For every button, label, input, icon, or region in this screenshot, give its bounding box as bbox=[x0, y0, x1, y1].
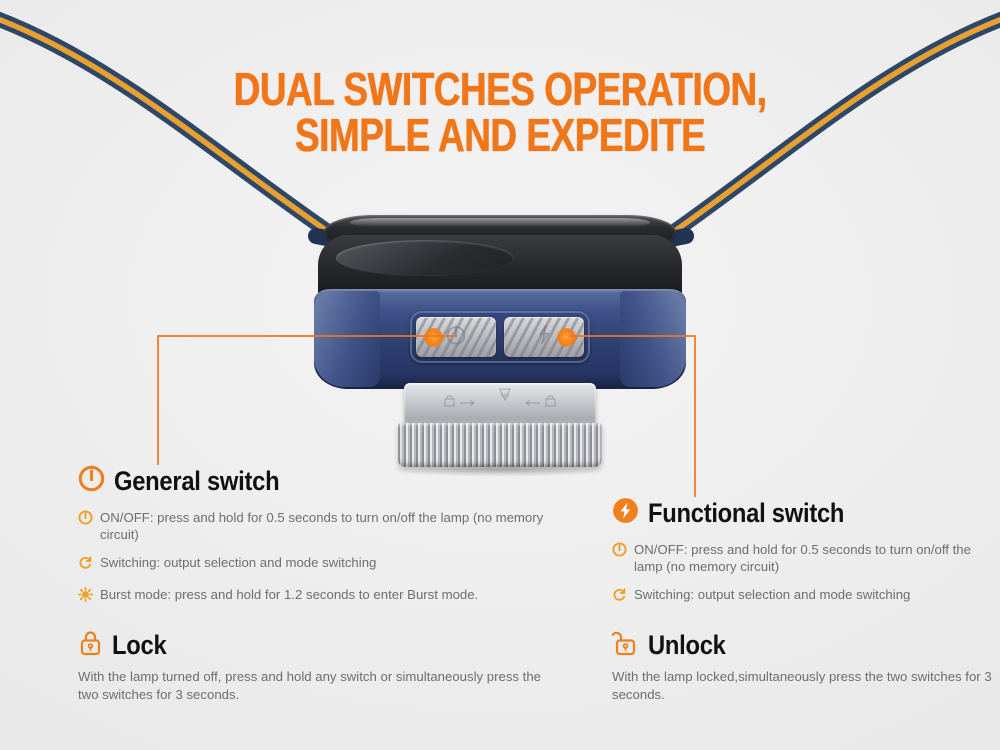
bullet-text: ON/OFF: press and hold for 0.5 seconds t… bbox=[634, 541, 992, 575]
cycle-arrow-icon bbox=[612, 587, 627, 607]
bullet-text: Switching: output selection and mode swi… bbox=[634, 586, 910, 603]
functional-switch-heading: Functional switch bbox=[648, 498, 844, 528]
callout-anchor-left bbox=[424, 328, 443, 347]
power-icon bbox=[78, 510, 93, 530]
bezel-marking-icons bbox=[404, 387, 596, 413]
bullet-text: Switching: output selection and mode swi… bbox=[100, 554, 376, 571]
title-line-2: SIMPLE AND EXPEDITE bbox=[100, 112, 900, 158]
title-line-1: DUAL SWITCHES OPERATION, bbox=[100, 66, 900, 112]
functional-switch-button[interactable] bbox=[504, 317, 584, 357]
general-switch-section: General switch ON/OFF: press and hold fo… bbox=[78, 465, 548, 703]
general-switch-heading-row: General switch bbox=[78, 465, 548, 497]
cycle-arrow-icon bbox=[78, 555, 93, 575]
general-switch-heading: General switch bbox=[114, 466, 279, 496]
unlock-heading-row: Unlock bbox=[612, 629, 992, 661]
lightning-bolt-symbol-icon bbox=[534, 323, 554, 352]
power-circle-icon bbox=[78, 465, 105, 497]
lock-description: With the lamp turned off, press and hold… bbox=[78, 668, 548, 703]
functional-switch-heading-row: Functional switch bbox=[612, 497, 992, 529]
lamp-focus-ring bbox=[398, 423, 602, 467]
headlamp-product-image bbox=[300, 215, 700, 480]
bullet-item: ON/OFF: press and hold for 0.5 seconds t… bbox=[78, 509, 548, 543]
switch-panel bbox=[410, 311, 590, 363]
unlock-heading: Unlock bbox=[648, 630, 726, 660]
page-title: DUAL SWITCHES OPERATION, SIMPLE AND EXPE… bbox=[0, 66, 1000, 158]
unlock-description: With the lamp locked,simultaneously pres… bbox=[612, 668, 992, 703]
infographic-canvas: DUAL SWITCHES OPERATION, SIMPLE AND EXPE… bbox=[0, 0, 1000, 750]
lamp-tilt-hinge bbox=[336, 240, 514, 276]
lamp-right-facet bbox=[620, 291, 686, 387]
bullet-text: Burst mode: press and hold for 1.2 secon… bbox=[100, 586, 478, 603]
bullet-item: Burst mode: press and hold for 1.2 secon… bbox=[78, 586, 548, 607]
padlock-closed-icon bbox=[78, 629, 103, 661]
bullet-item: ON/OFF: press and hold for 0.5 seconds t… bbox=[612, 541, 992, 575]
functional-switch-section: Functional switch ON/OFF: press and hold… bbox=[612, 497, 992, 703]
functional-switch-bullets: ON/OFF: press and hold for 0.5 seconds t… bbox=[612, 541, 992, 607]
callout-anchor-right bbox=[557, 328, 576, 347]
power-symbol-icon bbox=[445, 323, 467, 352]
general-switch-button[interactable] bbox=[416, 317, 496, 357]
bullet-item: Switching: output selection and mode swi… bbox=[78, 554, 548, 575]
lamp-left-facet bbox=[314, 291, 380, 387]
padlock-open-icon bbox=[612, 629, 639, 661]
power-icon bbox=[612, 542, 627, 562]
lock-heading-row: Lock bbox=[78, 629, 548, 661]
burst-sun-icon bbox=[78, 587, 93, 607]
general-switch-bullets: ON/OFF: press and hold for 0.5 seconds t… bbox=[78, 509, 548, 607]
bullet-item: Switching: output selection and mode swi… bbox=[612, 586, 992, 607]
lightning-circle-icon bbox=[612, 497, 639, 529]
lock-heading: Lock bbox=[112, 630, 166, 660]
lamp-top-highlight bbox=[350, 218, 650, 227]
bullet-text: ON/OFF: press and hold for 0.5 seconds t… bbox=[100, 509, 548, 543]
